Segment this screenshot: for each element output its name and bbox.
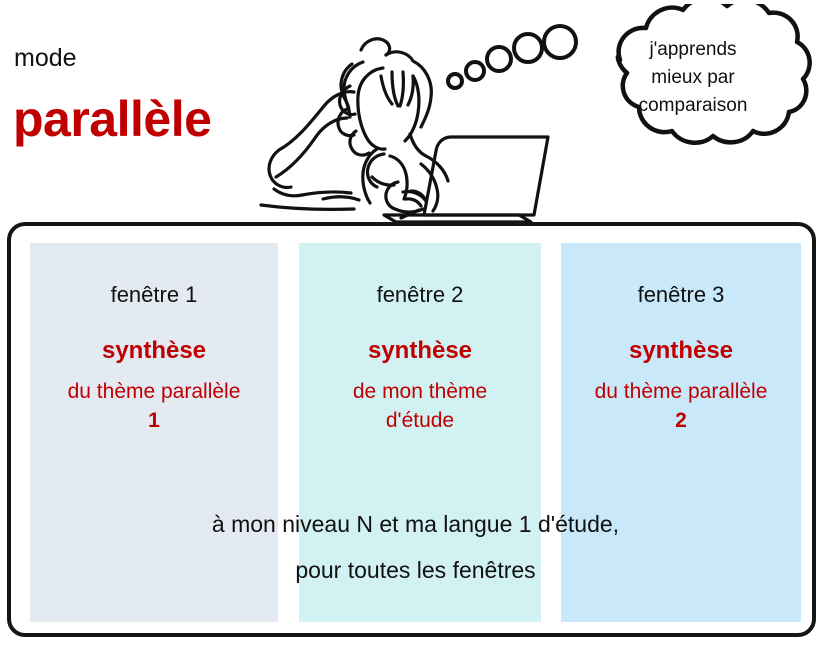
window-1-number: 1	[148, 409, 160, 432]
thought-bubble-line-3: comparaison	[598, 92, 788, 120]
window-1-subtitle: du thème parallèle 1	[30, 377, 278, 435]
window-2-subtitle-text: de mon thème	[353, 380, 487, 403]
thought-dots	[440, 18, 580, 94]
thought-bubble: j'apprends mieux par comparaison	[560, 4, 826, 164]
window-2-title: fenêtre 2	[299, 282, 541, 308]
window-panel-3[interactable]: fenêtre 3 synthèse du thème parallèle 2	[561, 243, 801, 622]
window-panel-1[interactable]: fenêtre 1 synthèse du thème parallèle 1	[30, 243, 278, 622]
mode-title: parallèle	[13, 90, 211, 148]
window-3-synthesis: synthèse	[561, 337, 801, 365]
windows-frame: fenêtre 1 synthèse du thème parallèle 1 …	[7, 222, 816, 637]
thought-bubble-text: j'apprends mieux par comparaison	[598, 36, 788, 120]
window-3-subtitle: du thème parallèle 2	[561, 377, 801, 435]
window-2-synthesis: synthèse	[299, 337, 541, 365]
window-2-number: d'étude	[386, 409, 454, 432]
window-1-title: fenêtre 1	[30, 282, 278, 308]
window-1-synthesis: synthèse	[30, 337, 278, 365]
window-3-number: 2	[675, 409, 687, 432]
window-3-subtitle-text: du thème parallèle	[595, 380, 768, 403]
header-area: mode parallèle	[0, 0, 829, 222]
thought-bubble-line-2: mieux par	[598, 64, 788, 92]
window-3-title: fenêtre 3	[561, 282, 801, 308]
thought-bubble-line-1: j'apprends	[598, 36, 788, 64]
window-1-subtitle-text: du thème parallèle	[68, 380, 241, 403]
windows-row: fenêtre 1 synthèse du thème parallèle 1 …	[30, 243, 801, 622]
mode-label: mode	[14, 44, 77, 73]
window-2-subtitle: de mon thème d'étude	[299, 377, 541, 435]
window-panel-2[interactable]: fenêtre 2 synthèse de mon thème d'étude	[299, 243, 541, 622]
